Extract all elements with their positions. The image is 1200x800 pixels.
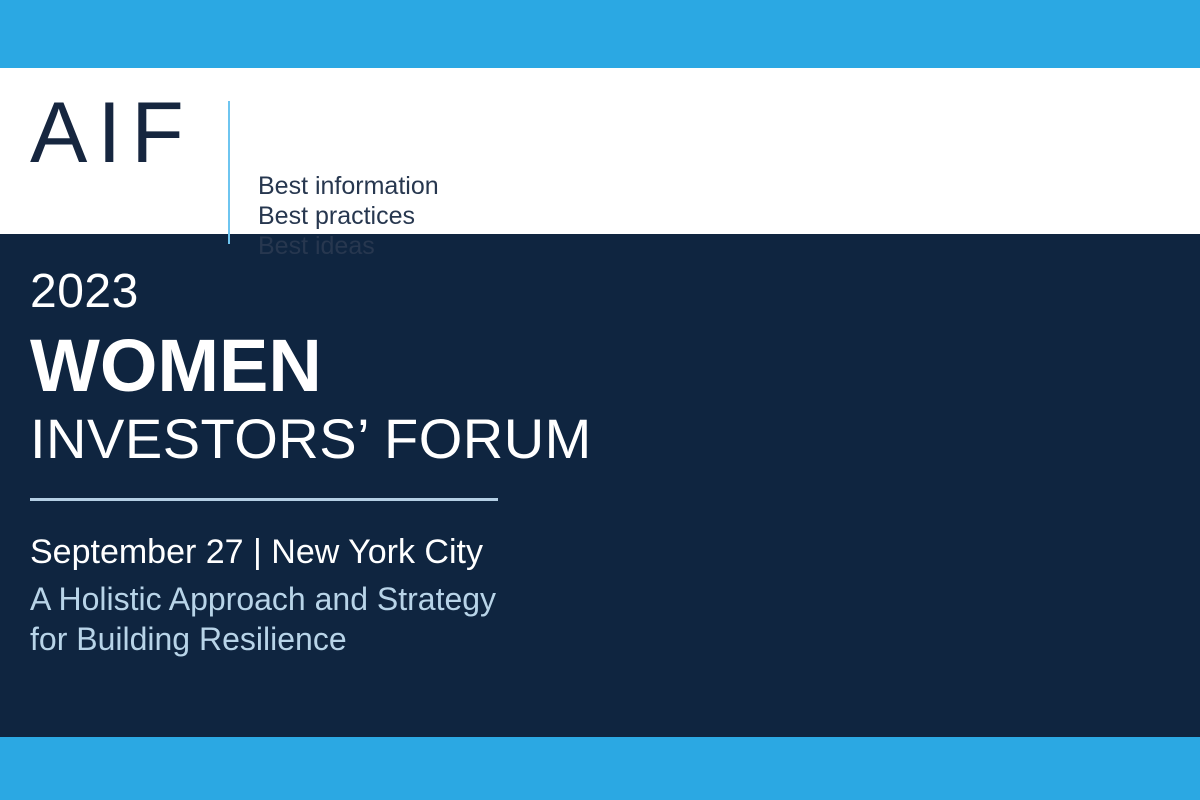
title-rule <box>30 498 498 501</box>
logo-tagline-line-1: Best information <box>258 171 439 201</box>
event-title-main: WOMEN <box>30 326 650 406</box>
event-subtitle: A Holistic Approach and Strategy for Bui… <box>30 579 650 659</box>
event-date-location: September 27 | New York City <box>30 531 650 573</box>
logo-divider-line <box>228 101 230 244</box>
event-banner: AIF Best information Best practices Best… <box>0 0 1200 800</box>
logo-band: AIF Best information Best practices Best… <box>0 68 1200 234</box>
top-accent-band <box>0 0 1200 68</box>
event-year: 2023 <box>30 264 650 320</box>
aif-logo-wordmark: AIF <box>30 90 194 176</box>
event-title-sub: INVESTORS’ FORUM <box>30 408 650 470</box>
logo-tagline-line-2: Best practices <box>258 201 439 231</box>
logo-tagline-line-3: Best ideas <box>258 231 439 261</box>
event-subtitle-line-2: for Building Resilience <box>30 619 650 659</box>
logo-tagline: Best information Best practices Best ide… <box>258 171 439 261</box>
headline-block: 2023 WOMEN INVESTORS’ FORUM September 27… <box>30 264 650 659</box>
bottom-accent-band <box>0 737 1200 800</box>
event-subtitle-line-1: A Holistic Approach and Strategy <box>30 579 650 619</box>
